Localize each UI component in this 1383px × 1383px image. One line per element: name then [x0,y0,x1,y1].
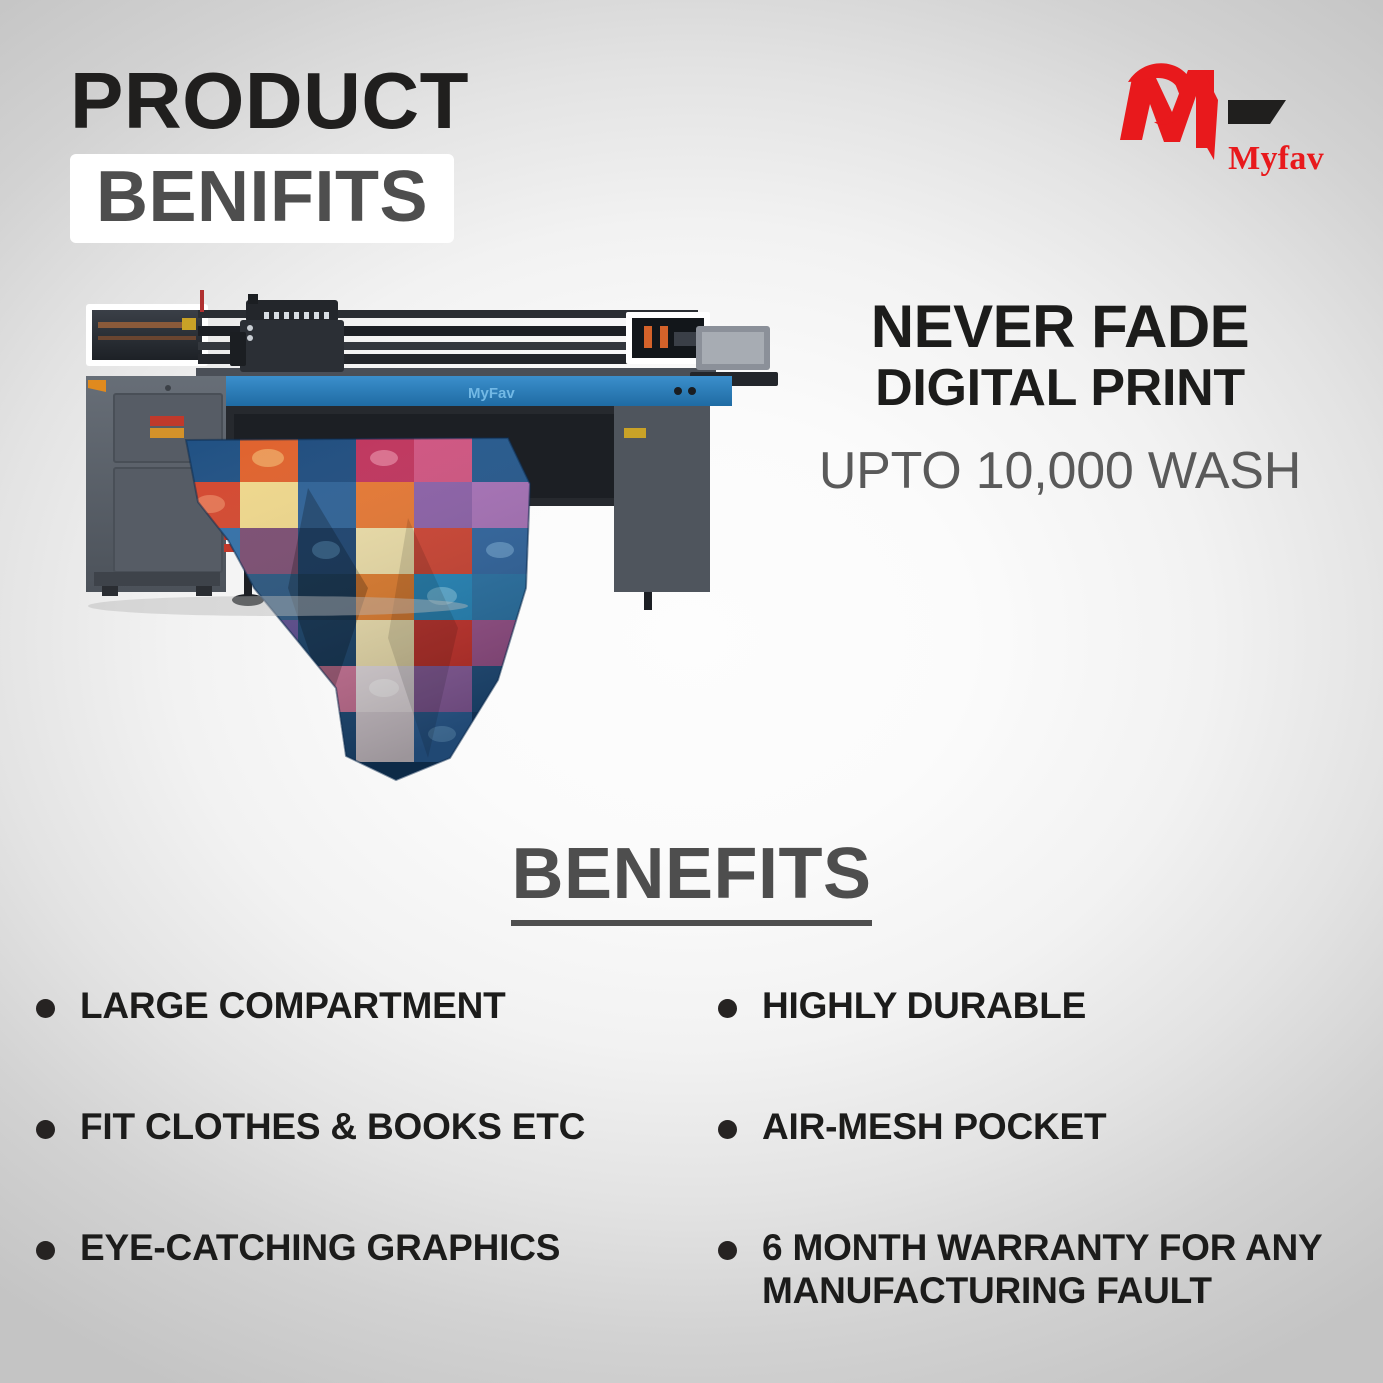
product-benefits-poster: PRODUCT BENIFITS Myfav [0,0,1383,1383]
page-title-secondary: BENIFITS [96,161,428,233]
printer-hero-image: MyFav [78,288,778,808]
bullet-dot-icon [718,1241,737,1260]
list-item: AIR-MESH POCKET [718,1106,1383,1149]
brand-logo: Myfav [1110,48,1325,176]
bullet-dot-icon [36,1241,55,1260]
bullet-dot-icon [36,999,55,1018]
list-item-label: AIR-MESH POCKET [762,1106,1106,1149]
headline-block: NEVER FADE DIGITAL PRINT UPTO 10,000 WAS… [790,296,1330,500]
headline-digital-print: DIGITAL PRINT [790,361,1330,416]
list-item-label: FIT CLOTHES & BOOKS ETC [80,1106,585,1149]
list-item-label: HIGHLY DURABLE [762,985,1086,1028]
list-item: LARGE COMPARTMENT [36,985,700,1028]
svg-text:MyFav: MyFav [468,385,515,402]
logo-wordmark: Myfav [1228,140,1324,178]
benefits-left-column: LARGE COMPARTMENT FIT CLOTHES & BOOKS ET… [0,985,700,1383]
page-title-primary: PRODUCT [70,62,790,140]
list-item-label: EYE-CATCHING GRAPHICS [80,1227,560,1270]
page-title-secondary-box: BENIFITS [70,154,454,243]
list-item: HIGHLY DURABLE [718,985,1383,1028]
bullet-dot-icon [36,1120,55,1139]
poster-title-block: PRODUCT BENIFITS [70,62,790,243]
headline-never-fade: NEVER FADE [790,296,1330,357]
list-item: FIT CLOTHES & BOOKS ETC [36,1106,700,1149]
list-item-label: 6 MONTH WARRANTY FOR ANY MANUFACTURING F… [762,1227,1383,1313]
bullet-dot-icon [718,999,737,1018]
benefits-right-column: HIGHLY DURABLE AIR-MESH POCKET 6 MONTH W… [700,985,1383,1383]
list-item-label: LARGE COMPARTMENT [80,985,506,1028]
list-item: 6 MONTH WARRANTY FOR ANY MANUFACTURING F… [718,1227,1383,1313]
benefits-section-heading: BENEFITS [0,838,1383,926]
benefits-lists: LARGE COMPARTMENT FIT CLOTHES & BOOKS ET… [0,985,1383,1383]
list-item: EYE-CATCHING GRAPHICS [36,1227,700,1270]
benefits-heading-text: BENEFITS [511,838,871,926]
bullet-dot-icon [718,1120,737,1139]
headline-wash-count: UPTO 10,000 WASH [790,442,1330,500]
digital-textile-printer-illustration: MyFav [78,288,778,808]
